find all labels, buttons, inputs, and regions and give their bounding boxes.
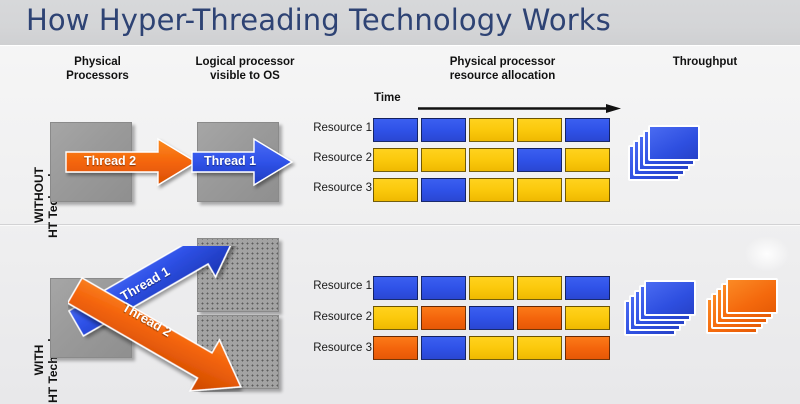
resource-cell [421, 306, 466, 330]
resource-cell [565, 118, 610, 142]
highlight-glow [744, 236, 790, 272]
resource-row-label: Resource 2 [286, 152, 372, 164]
resource-cell [421, 276, 466, 300]
resource-cell [517, 148, 562, 172]
thread-arrow-orange [66, 139, 196, 185]
resource-cell [565, 276, 610, 300]
page-title: How Hyper-Threading Technology Works [26, 3, 611, 37]
throughput-sheet [648, 125, 700, 161]
resource-cell [373, 148, 418, 172]
thread-arrow-orange-diagonal [68, 272, 278, 397]
throughput-sheet [644, 280, 696, 316]
resource-cell [373, 178, 418, 202]
resource-cell [517, 306, 562, 330]
resource-cell [469, 178, 514, 202]
resource-cell [373, 306, 418, 330]
throughput-sheet [726, 278, 778, 314]
resource-cell [421, 148, 466, 172]
resource-cell [469, 118, 514, 142]
resource-cell [517, 276, 562, 300]
resource-cell [421, 118, 466, 142]
resource-cell [517, 118, 562, 142]
resource-row-label: Resource 1 [286, 122, 372, 134]
resource-cell [565, 178, 610, 202]
column-header-physical-processors: Physical Processors [25, 55, 170, 83]
thread-arrow-blue [192, 139, 292, 185]
section-divider-highlight [0, 225, 800, 226]
resource-cell [421, 178, 466, 202]
resource-cell [469, 306, 514, 330]
resource-cell [373, 276, 418, 300]
diagram-canvas: How Hyper-Threading Technology Works Phy… [0, 0, 800, 404]
resource-row-label: Resource 3 [286, 342, 372, 354]
header-divider [0, 45, 800, 46]
resource-row-label: Resource 1 [286, 280, 372, 292]
column-header-resource-allocation: Physical processor resource allocation [395, 55, 610, 83]
time-arrow-icon [418, 100, 621, 109]
resource-cell [469, 148, 514, 172]
resource-cell [565, 148, 610, 172]
resource-cell [517, 178, 562, 202]
column-header-throughput: Throughput [620, 55, 790, 69]
resource-row-label: Resource 2 [286, 311, 372, 323]
resource-cell [469, 336, 514, 360]
resource-cell [373, 118, 418, 142]
resource-row-label: Resource 3 [286, 182, 372, 194]
resource-cell [517, 336, 562, 360]
resource-cell [565, 306, 610, 330]
resource-cell [373, 336, 418, 360]
resource-cell [565, 336, 610, 360]
resource-cell [421, 336, 466, 360]
time-axis-label: Time [374, 92, 401, 104]
column-header-logical-processor: Logical processor visible to OS [165, 55, 325, 83]
resource-cell [469, 276, 514, 300]
